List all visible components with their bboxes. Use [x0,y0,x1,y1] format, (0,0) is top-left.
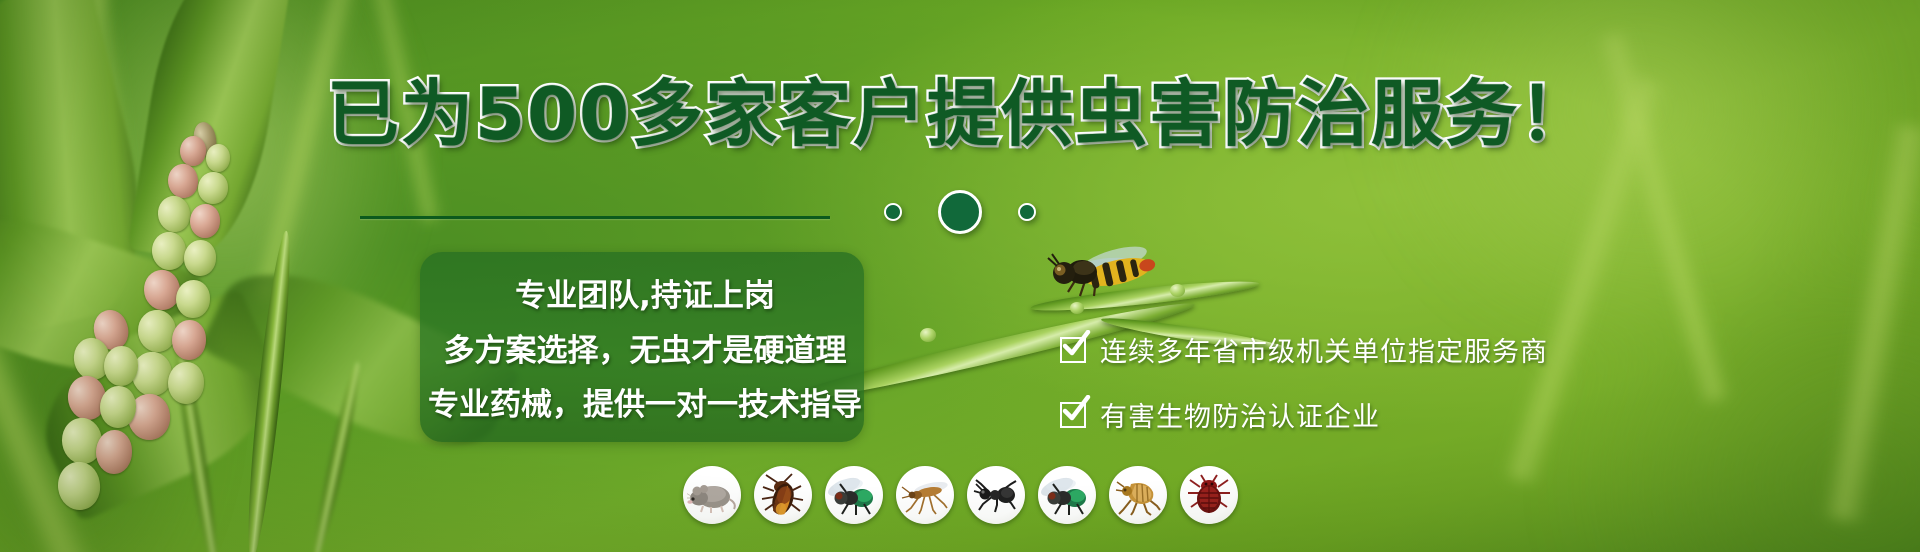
pest-control-banner: 已为500多家客户提供虫害防治服务！ 专业团队,持证上岗 多方案选择，无虫才是硬… [0,0,1920,552]
vignette-overlay [0,0,1920,552]
